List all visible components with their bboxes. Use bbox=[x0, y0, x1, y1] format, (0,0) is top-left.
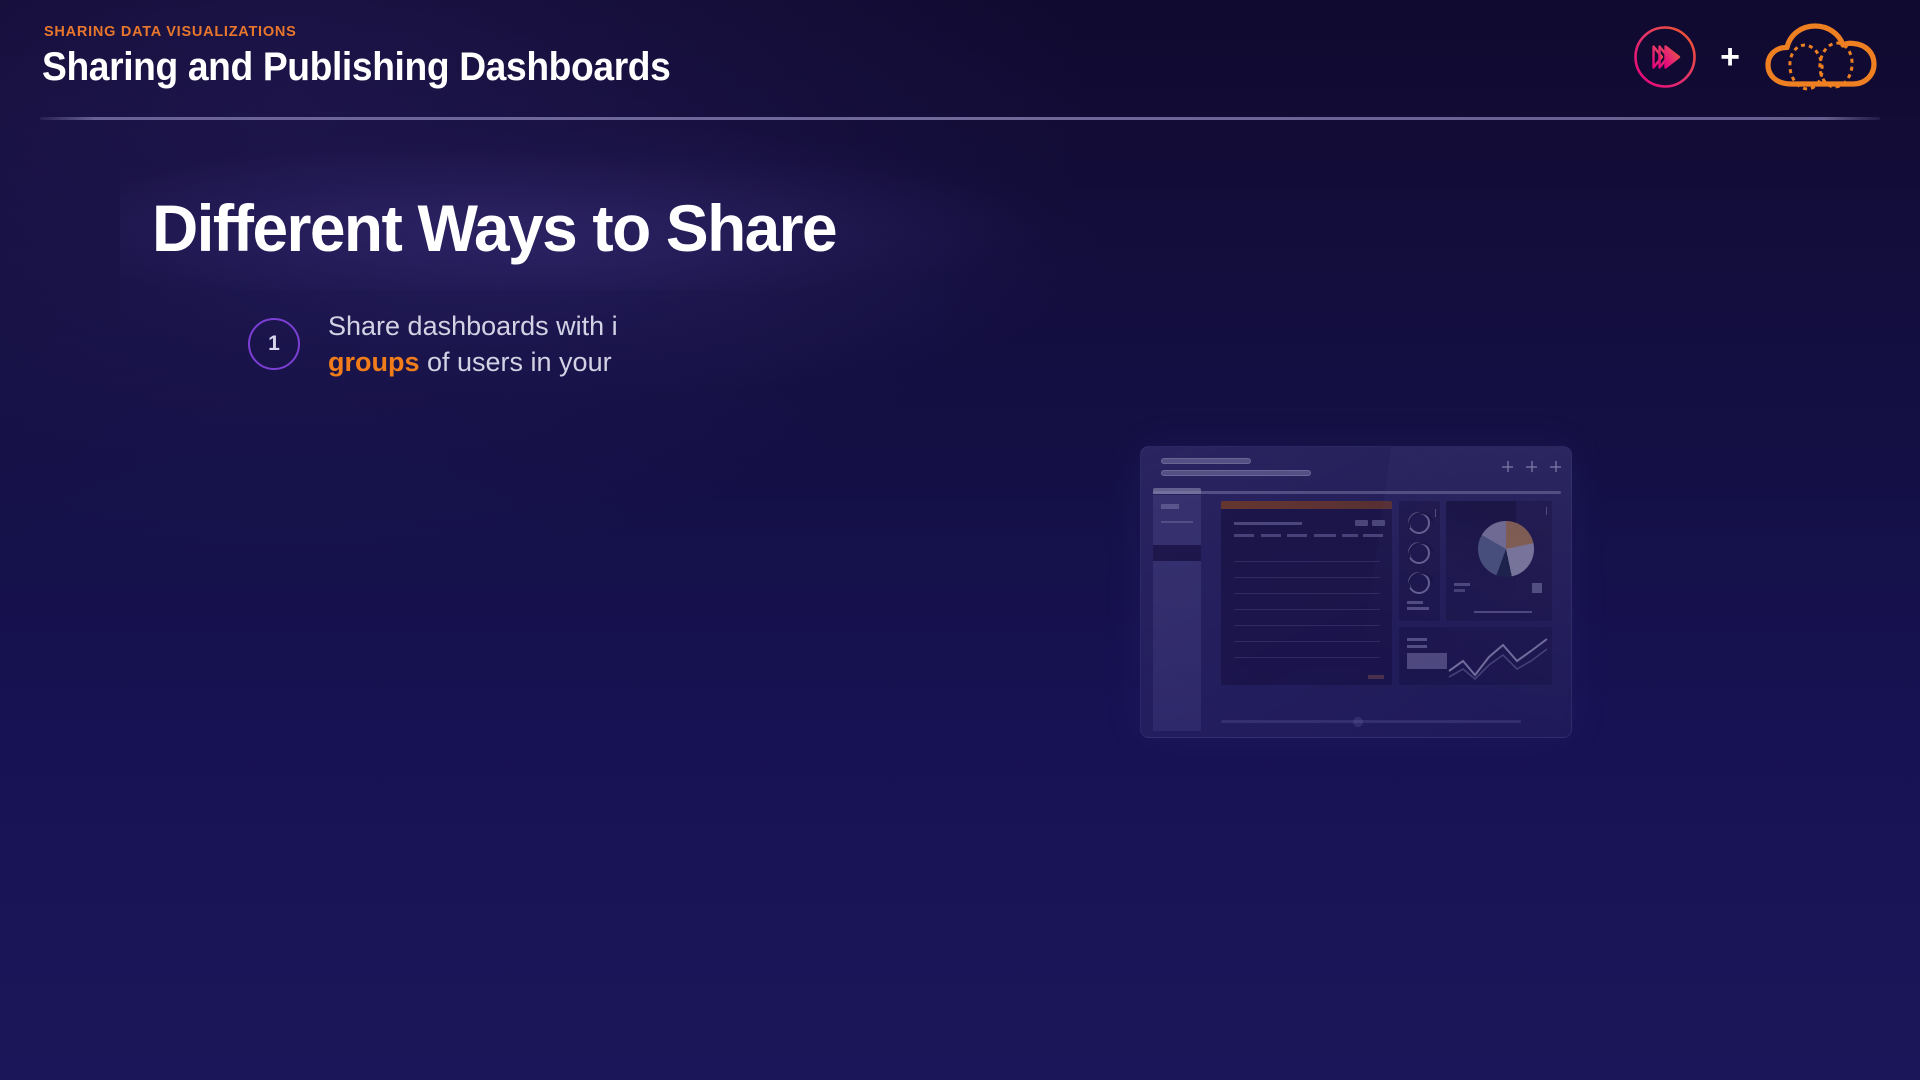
slide-canvas: SHARING DATA VISUALIZATIONS Sharing and … bbox=[0, 0, 1920, 1080]
mockup-address-line bbox=[1161, 470, 1311, 476]
mockup-table-title bbox=[1234, 522, 1302, 525]
mockup-browser-window bbox=[1140, 446, 1572, 738]
bullet-line1-prefix: Share dashboards with i bbox=[328, 311, 618, 341]
page-title: Different Ways to Share bbox=[152, 190, 836, 266]
mockup-line-label bbox=[1407, 645, 1427, 648]
mockup-table-panel bbox=[1221, 501, 1392, 685]
mockup-table-button bbox=[1372, 520, 1385, 526]
bullet-number-badge: 1 bbox=[248, 318, 300, 370]
mockup-sidebar bbox=[1153, 495, 1201, 731]
bullet-line2-highlight: groups bbox=[328, 347, 420, 377]
mockup-table-column-header bbox=[1342, 534, 1358, 537]
list-item: 1 Share dashboards with i groups of user… bbox=[248, 308, 1228, 381]
mockup-gauge-chart bbox=[1408, 572, 1430, 594]
header-title: Sharing and Publishing Dashboards bbox=[42, 45, 670, 90]
mockup-active-tab bbox=[1153, 488, 1201, 494]
table-row bbox=[1234, 641, 1380, 642]
mockup-gauge-label bbox=[1407, 607, 1429, 610]
plus-separator: + bbox=[1720, 40, 1740, 74]
mockup-line-chart-icon bbox=[1447, 631, 1552, 681]
mockup-gauge-tick bbox=[1435, 509, 1437, 517]
mockup-titlebar bbox=[1141, 447, 1571, 487]
mockup-line-panel bbox=[1399, 627, 1552, 685]
mockup-pie-legend-swatch bbox=[1532, 583, 1542, 593]
bullet-text: Share dashboards with i groups of users … bbox=[328, 308, 618, 381]
table-row bbox=[1234, 657, 1380, 658]
table-row bbox=[1234, 561, 1380, 562]
bullet-text-line-1: Share dashboards with i bbox=[328, 308, 618, 344]
mockup-window-control-icon bbox=[1502, 461, 1513, 472]
mockup-pie-tick bbox=[1546, 507, 1548, 515]
bullet-list: 1 Share dashboards with i groups of user… bbox=[248, 308, 1228, 381]
table-row bbox=[1234, 625, 1380, 626]
pluralsight-logo bbox=[1632, 24, 1698, 95]
bullet-text-line-2: groups of users in your bbox=[328, 344, 618, 380]
mockup-tabstrip bbox=[1153, 491, 1561, 494]
mockup-table-button bbox=[1355, 520, 1368, 526]
bullet-line2-suffix: of users in your bbox=[420, 347, 612, 377]
mockup-sidebar-item bbox=[1161, 504, 1179, 509]
mockup-sidebar-item bbox=[1161, 521, 1193, 523]
mockup-table-footer-badge bbox=[1368, 675, 1384, 679]
cloud-logo bbox=[1762, 20, 1880, 99]
mockup-pie-chart bbox=[1478, 521, 1534, 577]
mockup-pie-footer-line bbox=[1474, 611, 1532, 614]
mockup-sidebar-item-active bbox=[1153, 545, 1201, 561]
mockup-pie-label bbox=[1454, 583, 1470, 586]
mockup-gauge-chart bbox=[1408, 512, 1430, 534]
mockup-gauge-chart bbox=[1408, 542, 1430, 564]
mockup-gauges-panel bbox=[1399, 501, 1440, 621]
dashboard-illustration bbox=[1140, 446, 1572, 738]
table-row bbox=[1234, 593, 1380, 594]
table-row bbox=[1234, 609, 1380, 610]
mockup-footer-dot bbox=[1353, 717, 1363, 727]
mockup-gauge-label bbox=[1407, 601, 1423, 604]
header-eyebrow: SHARING DATA VISUALIZATIONS bbox=[44, 24, 297, 40]
mockup-window-control-icon bbox=[1550, 461, 1561, 472]
table-row bbox=[1234, 577, 1380, 578]
mockup-line-label bbox=[1407, 638, 1427, 641]
mockup-footer-strip bbox=[1221, 720, 1521, 723]
mockup-table-column-header bbox=[1314, 534, 1336, 537]
mockup-table-accent-bar bbox=[1221, 501, 1392, 509]
mockup-table-column-header bbox=[1363, 534, 1383, 537]
header-divider bbox=[40, 117, 1880, 120]
mockup-table-column-header bbox=[1287, 534, 1307, 537]
mockup-pie-panel bbox=[1446, 501, 1552, 621]
slide-header: SHARING DATA VISUALIZATIONS Sharing and … bbox=[0, 0, 1920, 120]
brand-lockup: + bbox=[1632, 22, 1880, 96]
mockup-titlebar-line bbox=[1161, 458, 1251, 464]
mockup-line-kpi-box bbox=[1407, 653, 1447, 669]
mockup-pie-label bbox=[1454, 589, 1465, 592]
mockup-window-control-icon bbox=[1526, 461, 1537, 472]
mockup-table-column-header bbox=[1234, 534, 1254, 537]
mockup-table-column-header bbox=[1261, 534, 1281, 537]
